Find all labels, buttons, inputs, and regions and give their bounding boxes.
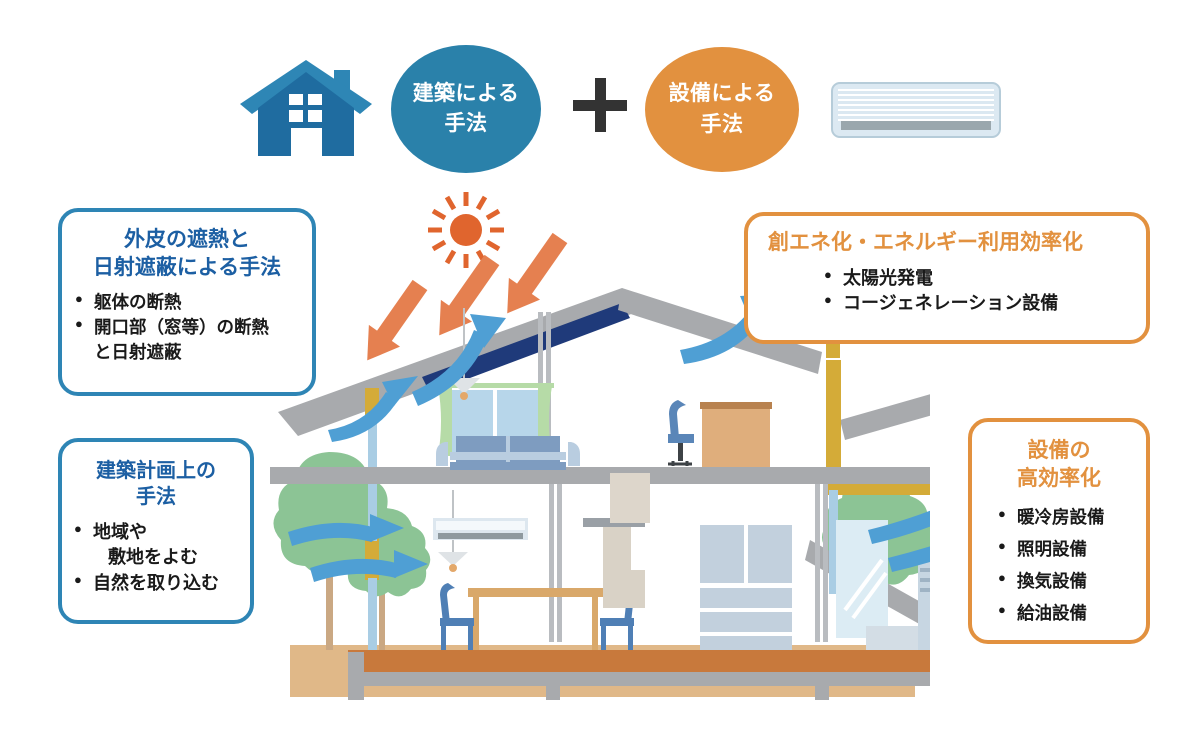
box-tr-list: 太陽光発電 コージェネレーション設備 [762,266,1132,317]
house-icon [236,52,376,160]
box-bl-title-line2: 手法 [74,484,238,510]
box-bl-title: 建築計画上の 手法 [74,458,238,511]
list-item: コージェネレーション設備 [824,291,1132,317]
office-chair [668,400,694,466]
sun-icon [428,192,504,268]
box-tl-title: 外皮の遮熱と 日射遮蔽による手法 [75,226,299,281]
indoor-air-conditioner [433,518,528,540]
info-box-energy-creation: 創エネ化・エネルギー利用効率化 太陽光発電 コージェネレーション設備 [744,212,1150,344]
diagram-canvas: 建築による 手法 設備による 手法 [0,0,1200,739]
box-tl-title-line2: 日射遮蔽による手法 [75,254,299,282]
box-br-list: 暖冷房設備 照明設備 換気設備 給油設備 [982,505,1136,625]
list-item: 敷地をよむ [74,545,238,571]
list-item: 自然を取り込む [74,571,238,597]
list-item: と日射遮蔽 [75,340,299,365]
kitchen-counter [583,473,650,608]
box-tr-title: 創エネ化・エネルギー利用効率化 [762,229,1132,257]
cabinet [700,525,792,650]
list-item: 暖冷房設備 [998,505,1136,530]
roof-mid [840,360,930,440]
circle-orange-line1: 設備による [669,79,776,109]
info-box-equipment-efficiency: 設備の 高効率化 暖冷房設備 照明設備 換気設備 給油設備 [968,418,1150,644]
circle-blue-line2: 手法 [413,109,520,139]
box-bl-list: 地域や 敷地をよむ 自然を取り込む [74,520,238,597]
method-circle-equipment: 設備による 手法 [645,47,799,172]
info-box-architectural-planning: 建築計画上の 手法 地域や 敷地をよむ 自然を取り込む [58,438,254,624]
plus-icon [573,78,627,132]
sofa [436,436,580,470]
wooden-floor [348,650,930,672]
info-box-envelope-shading: 外皮の遮熱と 日射遮蔽による手法 躯体の断熱 開口部（窓等）の断熱 と日射遮蔽 [58,208,316,396]
circle-blue-line1: 建築による [413,79,520,109]
list-item: 照明設備 [998,537,1136,562]
list-item: 躯体の断熱 [75,290,299,315]
box-br-title-line1: 設備の [982,437,1136,465]
tall-appliance [918,560,930,650]
list-item: 太陽光発電 [824,266,1132,292]
list-item: 換気設備 [998,569,1136,594]
box-tl-list: 躯体の断熱 開口部（窓等）の断熱 と日射遮蔽 [75,290,299,365]
circle-orange-line2: 手法 [669,110,776,140]
method-circle-architecture: 建築による 手法 [391,45,541,173]
ac-louvres [838,89,994,121]
air-conditioner-icon [831,82,1001,138]
box-br-title: 設備の 高効率化 [982,437,1136,492]
desk [700,402,772,467]
dining-table [468,588,603,655]
box-br-title-line2: 高効率化 [982,465,1136,493]
box-tl-title-line1: 外皮の遮熱と [75,226,299,254]
list-item: 給油設備 [998,601,1136,626]
box-bl-title-line1: 建築計画上の [74,458,238,484]
list-item: 地域や [74,520,238,546]
ac-vent [841,121,991,130]
list-item: 開口部（窓等）の断熱 [75,315,299,340]
